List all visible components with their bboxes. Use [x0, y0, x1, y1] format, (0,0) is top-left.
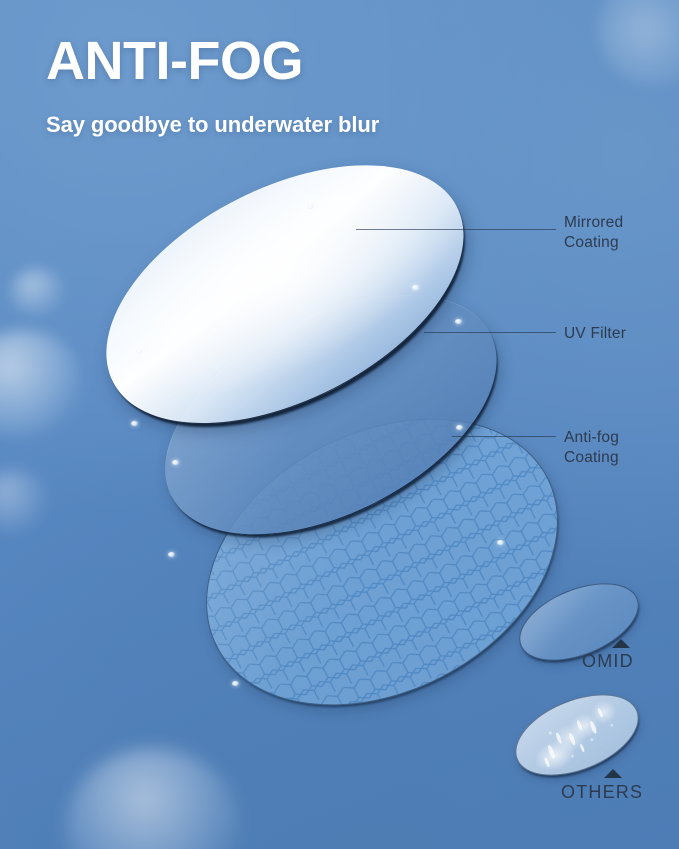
bubble-decoration	[66, 748, 240, 849]
comparison-label-omid: OMID	[582, 651, 634, 672]
bubble-decoration	[0, 330, 82, 438]
poster-canvas: ANTI-FOG Say goodbye to underwater blur	[0, 0, 679, 849]
leader-line-uv	[424, 332, 556, 333]
water-droplets-icon	[505, 680, 649, 791]
comparison-label-others: OTHERS	[561, 782, 643, 803]
comparison-lens-others	[504, 678, 651, 792]
bubble-decoration	[0, 470, 48, 532]
callout-mirrored-coating: Mirrored Coating	[564, 213, 623, 253]
triangle-up-icon	[612, 639, 630, 648]
leader-line-mirrored	[356, 229, 556, 230]
bubble-decoration	[598, 0, 679, 86]
page-title: ANTI-FOG	[46, 34, 303, 88]
leader-line-antifog	[452, 436, 556, 437]
bubble-decoration	[10, 268, 64, 316]
callout-antifog-coating: Anti-fog Coating	[564, 428, 619, 468]
rim-highlight	[131, 421, 138, 426]
callout-uv-filter: UV Filter	[564, 324, 626, 344]
triangle-up-icon	[604, 769, 622, 778]
page-subtitle: Say goodbye to underwater blur	[46, 114, 379, 136]
